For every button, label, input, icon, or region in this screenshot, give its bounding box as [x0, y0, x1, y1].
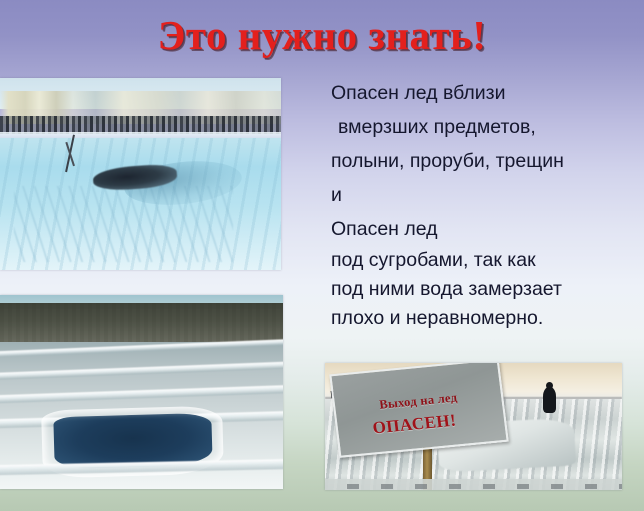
body-line-7: под ними вода замерзает	[331, 275, 641, 304]
body-line-1: Опасен лед вблизи	[331, 76, 641, 110]
photo-sign-person-silhouette	[543, 387, 556, 413]
photo-sign-board: Выход на лед ОПАСЕН!	[329, 363, 509, 457]
slide-title: Это нужно знать!	[0, 12, 644, 58]
photo-polynya-forest	[0, 303, 283, 344]
photo-polynya	[0, 295, 283, 489]
body-line-5: Опасен лед	[331, 212, 641, 246]
photo-sign-footer-strip	[325, 479, 622, 490]
body-line-8: плохо и неравномерно.	[331, 304, 641, 333]
photo-ice-hole	[0, 78, 281, 270]
body-line-2: вмерзших предметов,	[331, 110, 641, 144]
body-line-6: под сугробами, так как	[331, 246, 641, 275]
photo-warning-sign: Выход на лед ОПАСЕН!	[325, 363, 622, 490]
body-line-4: и	[331, 178, 641, 212]
body-line-3: полыни, проруби, трещин	[331, 144, 641, 178]
body-text-block: Опасен лед вблизи вмерзших предметов, по…	[331, 76, 641, 333]
photo-sign-footer-marks	[325, 484, 622, 489]
presentation-slide: Это нужно знать! Опасен лед вблизи вмерз…	[0, 0, 644, 511]
